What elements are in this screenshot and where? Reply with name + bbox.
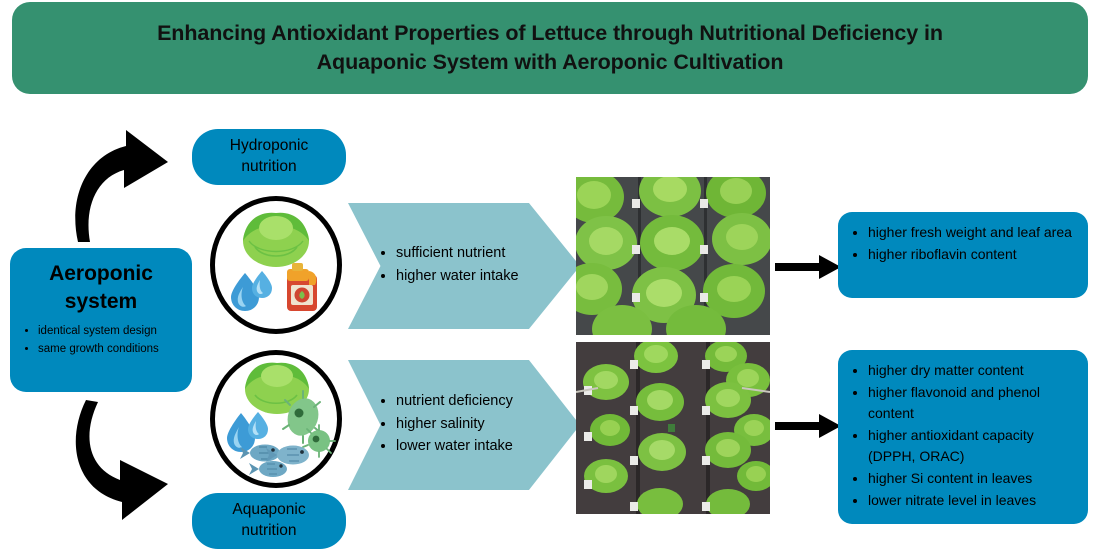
pill-line-2: nutrition <box>241 522 296 539</box>
list-item: higher antioxidant capacity (DPPH, ORAC) <box>868 425 1076 467</box>
graphical-abstract: Enhancing Antioxidant Properties of Lett… <box>0 0 1100 560</box>
list-item: higher Si content in leaves <box>868 468 1076 489</box>
list-item: higher water intake <box>396 266 519 288</box>
list-item: higher dry matter content <box>868 360 1076 381</box>
aeroponic-system-box: Aeroponic system identical system design… <box>10 248 192 392</box>
hydroponic-nutrition-pill: Hydroponic nutrition <box>192 129 346 185</box>
aquaponic-inputs-circle <box>210 350 342 488</box>
aquaponic-conditions-chevron: nutrient deficiency higher salinity lowe… <box>348 360 580 490</box>
system-title-line-1: Aeroponic <box>49 262 153 285</box>
system-bullet-list: identical system design same growth cond… <box>18 323 184 357</box>
pill-line-1: Hydroponic <box>230 137 308 154</box>
title-line-2: Aquaponic System with Aeroponic Cultivat… <box>317 50 784 74</box>
lettuce-icon <box>243 213 309 267</box>
list-item: lower nitrate level in leaves <box>868 490 1076 511</box>
fish-icon <box>240 445 309 478</box>
title-banner: Enhancing Antioxidant Properties of Lett… <box>12 2 1088 94</box>
list-item: nutrient deficiency <box>396 391 513 413</box>
curved-arrow-down-icon <box>64 398 184 522</box>
lettuce-crop-dense-photo <box>576 177 770 335</box>
system-title-line-2: system <box>65 290 137 313</box>
hydroponic-conditions-list: sufficient nutrient higher water intake <box>348 243 559 289</box>
title-line-1: Enhancing Antioxidant Properties of Lett… <box>157 21 943 45</box>
aquaponic-results-list: higher dry matter content higher flavono… <box>844 360 1076 511</box>
hydroponic-conditions-chevron: sufficient nutrient higher water intake <box>348 203 580 329</box>
water-drops-icon <box>231 271 272 311</box>
aquaponic-results-box: higher dry matter content higher flavono… <box>838 350 1088 524</box>
aquaponic-conditions-list: nutrient deficiency higher salinity lowe… <box>348 391 553 459</box>
pill-line-1: Aquaponic <box>232 501 305 518</box>
list-item: higher flavonoid and phenol content <box>868 382 1076 424</box>
list-item: higher salinity <box>396 414 513 436</box>
page-title: Enhancing Antioxidant Properties of Lett… <box>157 19 943 76</box>
list-item: higher riboflavin content <box>868 244 1076 265</box>
arrow-right-top-icon <box>775 253 841 281</box>
hydroponic-results-list: higher fresh weight and leaf area higher… <box>844 222 1076 264</box>
aquaponic-nutrition-pill: Aquaponic nutrition <box>192 493 346 549</box>
list-item: identical system design <box>38 323 180 340</box>
hydroponic-nutrition-label: Hydroponic nutrition <box>230 136 308 178</box>
aeroponic-system-title: Aeroponic system <box>18 260 184 315</box>
list-item: higher fresh weight and leaf area <box>868 222 1076 243</box>
hydroponic-results-box: higher fresh weight and leaf area higher… <box>838 212 1088 298</box>
curved-arrow-up-icon <box>64 126 180 242</box>
list-item: sufficient nutrient <box>396 243 519 265</box>
lettuce-crop-sparse-photo <box>576 342 770 514</box>
fertilizer-bottle-icon <box>287 263 317 311</box>
aquaponic-nutrition-label: Aquaponic nutrition <box>232 500 305 542</box>
list-item: same growth conditions <box>38 341 180 358</box>
hydroponic-inputs-circle <box>210 196 342 334</box>
list-item: lower water intake <box>396 436 513 458</box>
arrow-right-bottom-icon <box>775 412 841 440</box>
pill-line-2: nutrition <box>241 158 296 175</box>
